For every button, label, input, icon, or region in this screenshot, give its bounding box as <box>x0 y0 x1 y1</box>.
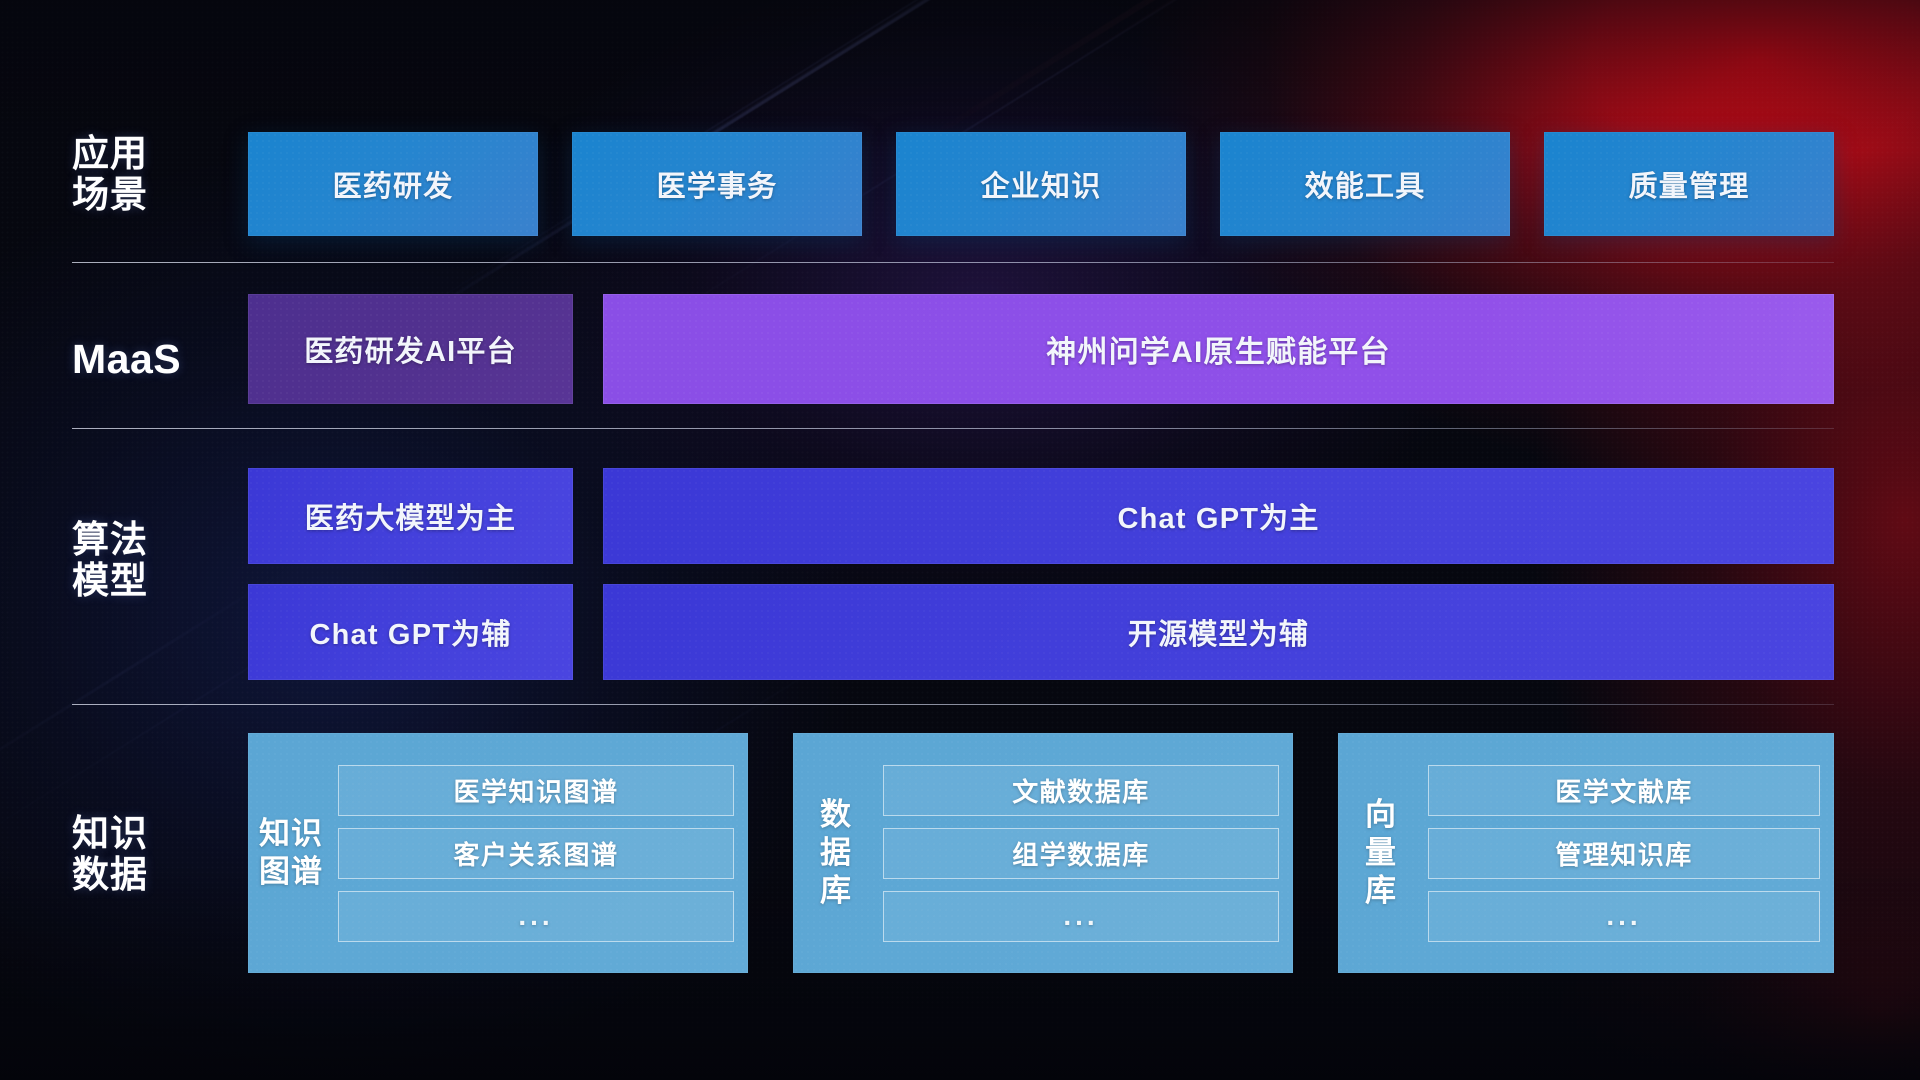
divider-after-application-scenarios <box>72 262 1834 263</box>
knowledge-item-medical-literature-store[interactable]: 医学文献库 <box>1428 765 1820 816</box>
maas-tile-pharma-ai-platform[interactable]: 医药研发AI平台 <box>248 294 573 404</box>
row-label-knowledge-data: 知识 数据 <box>72 813 242 896</box>
maas-tile-shenzhou-wenxue-platform[interactable]: 神州问学AI原生赋能平台 <box>603 294 1834 404</box>
knowledge-panel-knowledge-graph[interactable]: 知识 图谱 医学知识图谱 客户关系图谱 ... <box>248 733 748 973</box>
algo-tile-opensource-secondary[interactable]: 开源模型为辅 <box>603 584 1834 680</box>
knowledge-item-more-database[interactable]: ... <box>883 891 1279 942</box>
knowledge-item-list-knowledge-graph: 医学知识图谱 客户关系图谱 ... <box>324 765 734 942</box>
app-tile-quality-management[interactable]: 质量管理 <box>1544 132 1834 236</box>
knowledge-item-list-vector-store: 医学文献库 管理知识库 ... <box>1414 765 1820 942</box>
knowledge-panel-vector-store[interactable]: 向 量 库 医学文献库 管理知识库 ... <box>1338 733 1834 973</box>
knowledge-item-management-knowledge-store[interactable]: 管理知识库 <box>1428 828 1820 879</box>
knowledge-item-more-knowledge-graph[interactable]: ... <box>338 891 734 942</box>
knowledge-item-literature-database[interactable]: 文献数据库 <box>883 765 1279 816</box>
row-label-maas: MaaS <box>72 337 242 383</box>
divider-after-maas <box>72 428 1834 429</box>
knowledge-panel-database[interactable]: 数 据 库 文献数据库 组学数据库 ... <box>793 733 1293 973</box>
row-label-application-scenarios: 应用 场景 <box>72 133 242 216</box>
algo-tile-pharma-large-model-primary[interactable]: 医药大模型为主 <box>248 468 573 564</box>
knowledge-item-omics-database[interactable]: 组学数据库 <box>883 828 1279 879</box>
knowledge-item-medical-knowledge-graph[interactable]: 医学知识图谱 <box>338 765 734 816</box>
knowledge-item-more-vector-store[interactable]: ... <box>1428 891 1820 942</box>
knowledge-item-list-database: 文献数据库 组学数据库 ... <box>869 765 1279 942</box>
knowledge-panel-label-vector-store: 向 量 库 <box>1348 796 1414 909</box>
app-tile-medical-affairs[interactable]: 医学事务 <box>572 132 862 236</box>
divider-after-algorithm-models <box>72 704 1834 705</box>
architecture-diagram-canvas: 应用 场景 医药研发 医学事务 企业知识 效能工具 质量管理 MaaS 医药研发… <box>0 0 1920 1080</box>
knowledge-panel-label-knowledge-graph: 知识 图谱 <box>258 815 324 891</box>
row-label-algorithm-models: 算法 模型 <box>72 519 242 602</box>
algo-tile-chatgpt-primary[interactable]: Chat GPT为主 <box>603 468 1834 564</box>
app-tile-efficiency-tools[interactable]: 效能工具 <box>1220 132 1510 236</box>
app-tile-pharma-rnd[interactable]: 医药研发 <box>248 132 538 236</box>
algo-tile-chatgpt-secondary[interactable]: Chat GPT为辅 <box>248 584 573 680</box>
app-tile-enterprise-knowledge[interactable]: 企业知识 <box>896 132 1186 236</box>
knowledge-item-customer-relation-graph[interactable]: 客户关系图谱 <box>338 828 734 879</box>
knowledge-panel-label-database: 数 据 库 <box>803 796 869 909</box>
